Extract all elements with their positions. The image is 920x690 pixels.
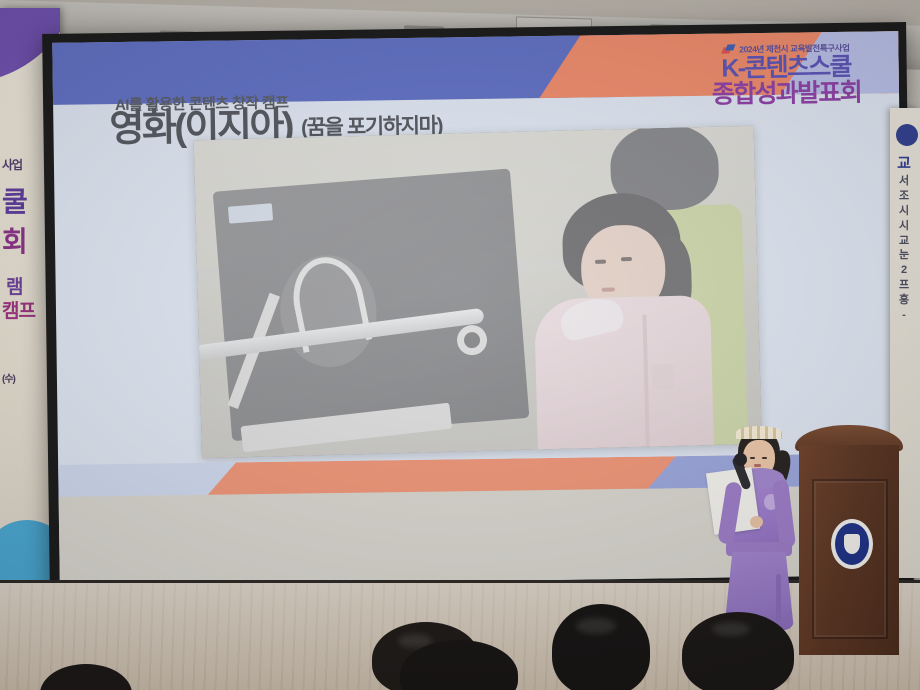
photo-child-eye-right (621, 257, 632, 261)
ribbon-mark-icon (722, 44, 735, 55)
presenter-skirt-tie (776, 574, 781, 622)
banner-right-line-6: 교 (891, 234, 917, 249)
podium-crest-shield (844, 534, 860, 554)
slide-logo: 2024년 제천시 교육발전특구사업 K-콘텐츠스쿨 종합성과발표회 (711, 42, 861, 108)
podium-crest-icon (831, 519, 873, 569)
banner-right-line-8: 2 (891, 263, 917, 278)
slide-logo-line2: 종합성과발표회 (712, 80, 861, 108)
photo-child-eye-left (595, 260, 606, 264)
auditorium-scene: 사업 쿨 회 램 캠프 (수) AI를 활용한 콘텐츠 창작 캠프 영화(이지아… (0, 0, 920, 690)
hair-highlight (712, 622, 750, 636)
banner-right-line-1: 교 (891, 154, 917, 174)
banner-right-line-5: 시 (891, 219, 917, 234)
banner-right-line-2: 서 (891, 174, 917, 189)
banner-right-line-9: 프 (891, 278, 917, 293)
flower-crown-icon (736, 426, 782, 439)
banner-right-line-11: - (891, 308, 917, 323)
banner-right-line-10: 흥 (891, 293, 917, 308)
slide-logo-line1: K-콘텐츠스쿨 (711, 54, 860, 82)
podium (795, 425, 903, 655)
banner-right-line-3: 조 (891, 189, 917, 204)
slide-photo (194, 126, 762, 459)
banner-right-dot (896, 124, 918, 146)
photo-jacket-emblem (652, 364, 675, 391)
photo-child-mouth (602, 287, 615, 291)
presenter-mouth (754, 464, 761, 467)
podium-body (799, 445, 899, 655)
presenter-eye-left (750, 457, 755, 459)
hair-highlight (576, 618, 616, 634)
photo-monitor-label (228, 203, 273, 223)
presenter-eye-right (762, 457, 767, 459)
banner-right-text-column: 교 서 조 시 시 교 눈 2 프 흥 - (891, 154, 917, 323)
presenter-hand (750, 516, 763, 528)
banner-right-line-4: 시 (891, 204, 917, 219)
audience-head (682, 612, 794, 690)
banner-right-line-7: 눈 (891, 248, 917, 263)
podium-crest-inner (835, 523, 869, 565)
microphone-head (734, 453, 747, 466)
audience-head (552, 604, 650, 690)
